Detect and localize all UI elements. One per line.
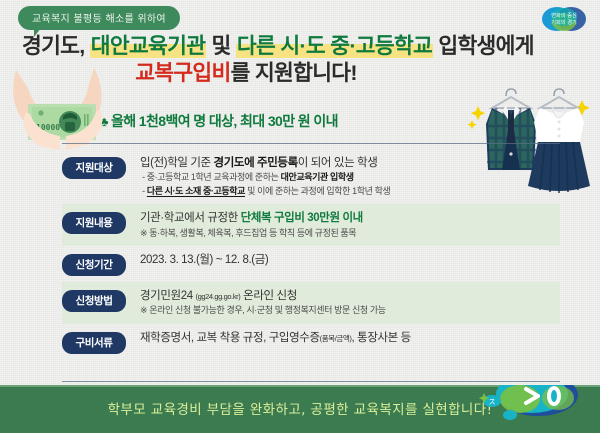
logo-line1: 변화의 중심 bbox=[551, 11, 577, 19]
row-line: ※ 온라인 신청 불가능한 경우, 시·군청 및 행정복지센터 방문 신청 가능 bbox=[140, 304, 560, 318]
summary-line: ♣올해 1천8백여 명 대상, 최대 30만 원 이내 bbox=[100, 111, 338, 131]
info-table: 지원대상 입(전)학일 기준 경기도에 주민등록이 되어 있는 학생 - 중·고… bbox=[62, 149, 560, 360]
row-content-cell: 재학증명서, 교복 착용 규정, 구입영수증(품목/금액), 통장사본 등 bbox=[136, 330, 560, 346]
status-badge: 구비서류 bbox=[62, 332, 126, 354]
row-badge-cell: 신청방법 bbox=[62, 288, 136, 312]
row-badge-cell: 지원내용 bbox=[62, 210, 136, 234]
row-content-cell: 입(전)학일 기준 경기도에 주민등록이 되어 있는 학생 - 중·고등학교 1… bbox=[136, 155, 560, 198]
svg-text:ス: ス bbox=[489, 398, 496, 406]
status-badge: 신청방법 bbox=[62, 290, 126, 312]
tagline-text: 교육복지 불평등 해소를 위하여 bbox=[32, 14, 166, 25]
table-row: 구비서류 재학증명서, 교복 착용 규정, 구입영수증(품목/금액), 통장사본… bbox=[62, 324, 560, 360]
footer-banner: 학부모 교육경비 부담을 완화하고, 공평한 교육복지를 실현합니다! ス bbox=[0, 385, 600, 433]
tagline-speech-bubble: 교육복지 불평등 해소를 위하여 bbox=[18, 6, 180, 30]
row-content-cell: 기관·학교에서 규정한 단체복 구입비 30만원 이내 ※ 동·하복, 생활복,… bbox=[136, 210, 560, 240]
table-row: 신청방법 경기민원24 (gg24.gg.go.kr) 온라인 신청 ※ 온라인… bbox=[62, 282, 560, 324]
summary-text: 올해 1천8백여 명 대상, 최대 30만 원 이내 bbox=[111, 113, 338, 129]
row-badge-cell: 신청기간 bbox=[62, 252, 136, 276]
row-line: - 중·고등학교 1학년 교육과정에 준하는 대안교육기관 입학생 bbox=[140, 171, 560, 185]
row-line: ※ 동·하복, 생활복, 체육복, 후드집업 등 학칙 등에 규정된 품목 bbox=[140, 227, 560, 241]
divider-top bbox=[62, 143, 560, 144]
row-line: 기관·학교에서 규정한 단체복 구입비 30만원 이내 bbox=[140, 210, 560, 226]
hands-holding-money-illustration: 10000 bbox=[8, 66, 120, 161]
logo-line2: 기회의 경기 bbox=[551, 18, 577, 26]
table-row: 신청기간 2023. 3. 13.(월) ~ 12. 8.(금) bbox=[62, 246, 560, 282]
table-row: 지원내용 기관·학교에서 규정한 단체복 구입비 30만원 이내 ※ 동·하복,… bbox=[62, 204, 560, 246]
status-badge: 지원내용 bbox=[62, 212, 126, 234]
status-badge: 지원대상 bbox=[62, 157, 126, 179]
divider-bottom bbox=[62, 381, 560, 382]
row-line: - 다른 시·도 소재 중·고등학교 및 이에 준하는 과정에 입학한 1학년 … bbox=[140, 185, 560, 199]
row-line: 입(전)학일 기준 경기도에 주민등록이 되어 있는 학생 bbox=[140, 155, 560, 171]
row-content-cell: 경기민원24 (gg24.gg.go.kr) 온라인 신청 ※ 온라인 신청 불… bbox=[136, 288, 560, 318]
row-badge-cell: 지원대상 bbox=[62, 155, 136, 179]
row-content-cell: 2023. 3. 13.(월) ~ 12. 8.(금) bbox=[136, 252, 560, 268]
row-line: 2023. 3. 13.(월) ~ 12. 8.(금) bbox=[140, 252, 560, 268]
row-line: 경기민원24 (gg24.gg.go.kr) 온라인 신청 bbox=[140, 288, 560, 304]
gyeonggi-mascot-illustration: ス bbox=[476, 385, 588, 427]
table-row: 지원대상 입(전)학일 기준 경기도에 주민등록이 되어 있는 학생 - 중·고… bbox=[62, 149, 560, 204]
row-line: 재학증명서, 교복 착용 규정, 구입영수증(품목/금액), 통장사본 등 bbox=[140, 330, 560, 346]
poster-root: 교육복지 불평등 해소를 위하여 변화의 중심 기회의 경기 경기도, 대안교육… bbox=[0, 0, 600, 433]
status-badge: 신청기간 bbox=[62, 254, 126, 276]
row-badge-cell: 구비서류 bbox=[62, 330, 136, 354]
gyeonggi-province-logo: 변화의 중심 기회의 경기 bbox=[536, 4, 592, 34]
headline-line-1: 경기도, 대안교육기관 및 다른 시·도 중·고등학교 입학생에게 bbox=[22, 34, 582, 59]
